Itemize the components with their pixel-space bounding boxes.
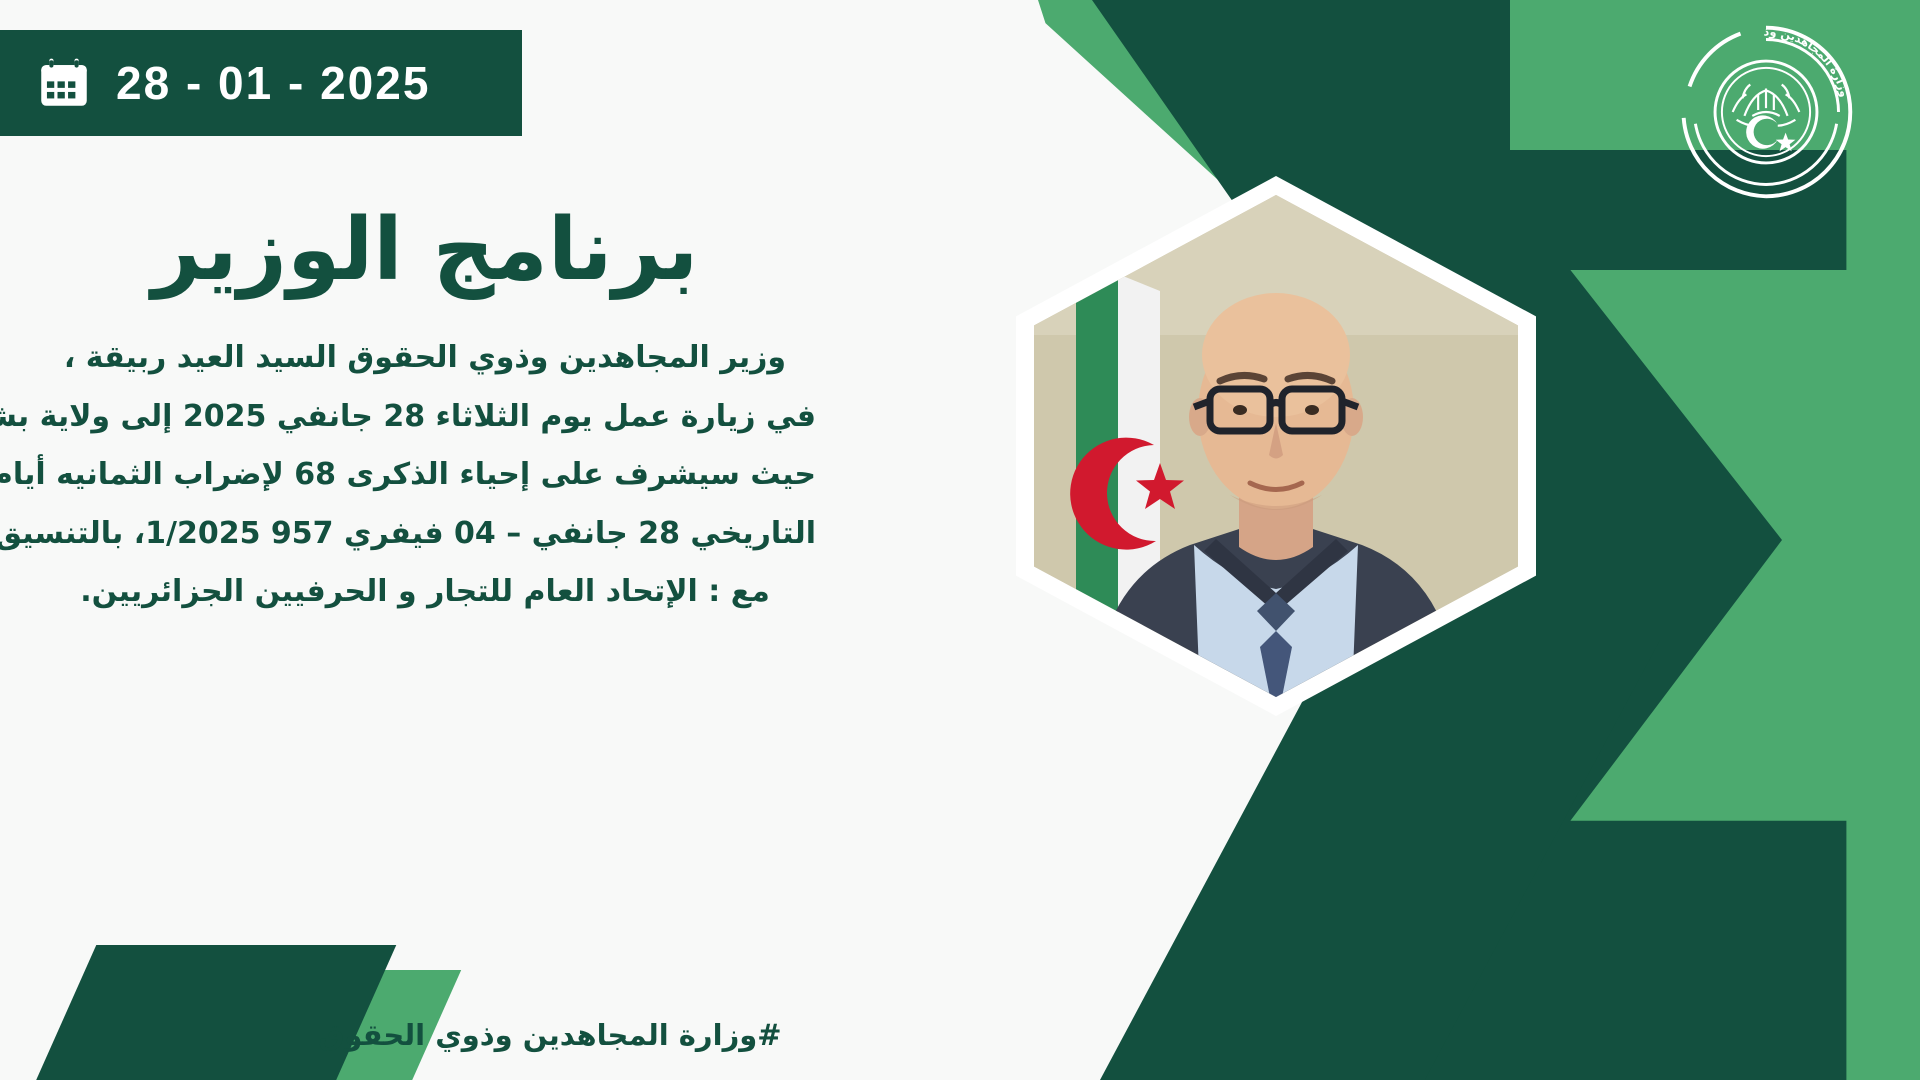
body-line-5: مع : الإتحاد العام للتجار و الحرفيين الج… xyxy=(34,563,816,622)
body-line-1: وزير المجاهدين وذوي الحقوق السيد العيد ر… xyxy=(34,329,816,388)
page-title: برنامج الوزير xyxy=(0,200,850,301)
footer-hashtag: #وزارة المجاهدين وذوي الحقوق xyxy=(0,1018,1100,1052)
text-column: برنامج الوزير وزير المجاهدين وذوي الحقوق… xyxy=(0,200,850,622)
announcement-poster: 28 - 01 - 2025 وزارة ال xyxy=(0,0,1920,1080)
date-text: 28 - 01 - 2025 xyxy=(116,56,430,110)
avatar xyxy=(1034,195,1518,697)
body-line-4: التاريخي 28 جانفي – 04 فيفري 957 1/2025،… xyxy=(34,505,816,564)
body-line-2: في زيارة عمل يوم الثلاثاء 28 جانفي 2025 … xyxy=(34,388,816,447)
body-line-3: حيث سيشرف على إحياء الذكرى 68 لإضراب الث… xyxy=(34,446,816,505)
portrait-clip xyxy=(1034,195,1518,697)
ministry-emblem-icon: وزارة المجاهدين وذوي الحقوق xyxy=(1668,14,1864,210)
date-badge: 28 - 01 - 2025 xyxy=(0,30,522,136)
calendar-icon xyxy=(38,57,90,109)
svg-text:وزارة المجاهدين وذوي الحقوق: وزارة المجاهدين وذوي الحقوق xyxy=(1668,14,1851,98)
emblem-ring-text: وزارة المجاهدين وذوي الحقوق xyxy=(1668,14,1851,98)
announcement-body: وزير المجاهدين وذوي الحقوق السيد العيد ر… xyxy=(0,329,850,622)
